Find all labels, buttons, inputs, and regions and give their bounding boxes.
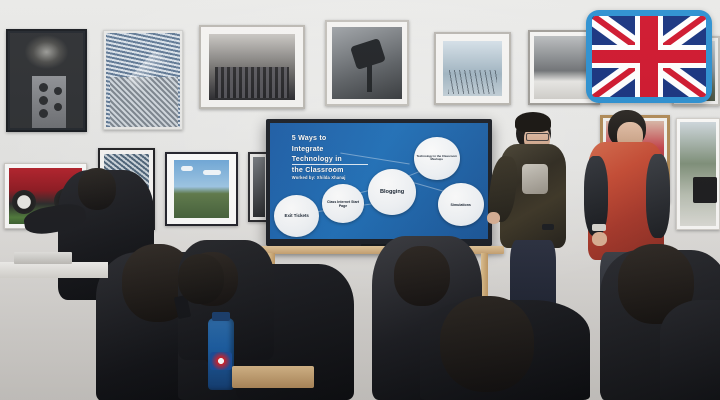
pepsi-label: [210, 352, 232, 370]
wooden-tray: [232, 366, 314, 388]
presenter-left-hand: [487, 212, 500, 224]
presenter-left-watch: [542, 224, 554, 230]
union-jack-flag: [592, 16, 706, 97]
framed-photo-lamp: [325, 20, 409, 106]
framed-photo-aerial: [103, 30, 183, 130]
audience-member-right-1-head: [394, 246, 450, 306]
audience-member-corner-right: [660, 300, 720, 400]
flag-cross-red-horizontal: [592, 50, 706, 63]
slide-bubble-label: Exit Tickets: [285, 213, 309, 218]
framed-photo-crowd: [199, 25, 305, 109]
slide-title-line-1: 5 Ways to: [292, 133, 401, 143]
presenter-right-hand: [592, 232, 607, 246]
desk-surface: [0, 262, 108, 278]
laptop: [14, 252, 72, 264]
presenter-left-glasses: [526, 133, 549, 141]
slide-bubble-blogging: Blogging: [368, 169, 416, 214]
slide-bubble-label: Blogging: [380, 189, 404, 195]
framed-photo-sculpture: [6, 29, 87, 132]
presentation-display: 5 Ways to Integrate Technology in the Cl…: [266, 119, 492, 246]
presenter-right-watch: [592, 224, 606, 231]
slide-bubble-label: Technology in the Classroom Mashups: [416, 155, 458, 162]
framed-photo-field: [165, 152, 238, 226]
slide-title-line-2: Integrate: [292, 144, 401, 154]
slide-bubble-simulations: Simulations: [438, 183, 484, 226]
slide-bubble-class-internet-start-page: Class Internet Start Page: [322, 184, 363, 222]
slide-bubble-label: Simulations: [451, 203, 471, 207]
slide-bubble-exit-tickets: Exit Tickets: [274, 195, 319, 237]
bottle-cap: [212, 312, 230, 321]
audience-member-right-2-head: [440, 296, 534, 392]
framed-photo-camera: [676, 118, 720, 230]
slide-content: 5 Ways to Integrate Technology in the Cl…: [270, 123, 488, 239]
slide-title-line-3: Technology in: [292, 154, 368, 165]
presenter-right-sleeve-right: [646, 154, 670, 238]
slide-bubble-technology-mashups: Technology in the Classroom Mashups: [414, 137, 460, 180]
slide-bubble-label: Class Internet Start Page: [324, 200, 361, 208]
presenter-left-hair: [515, 112, 551, 132]
audience-member-mid-right-head: [178, 254, 224, 304]
flag-badge-uk[interactable]: [586, 10, 712, 103]
presenter-left-hoodie-graphic: [522, 164, 548, 194]
framed-photo-winter-trees: [434, 32, 511, 105]
audience-member-left-head: [78, 168, 116, 210]
screenshot-root: 5 Ways to Integrate Technology in the Cl…: [0, 0, 720, 400]
